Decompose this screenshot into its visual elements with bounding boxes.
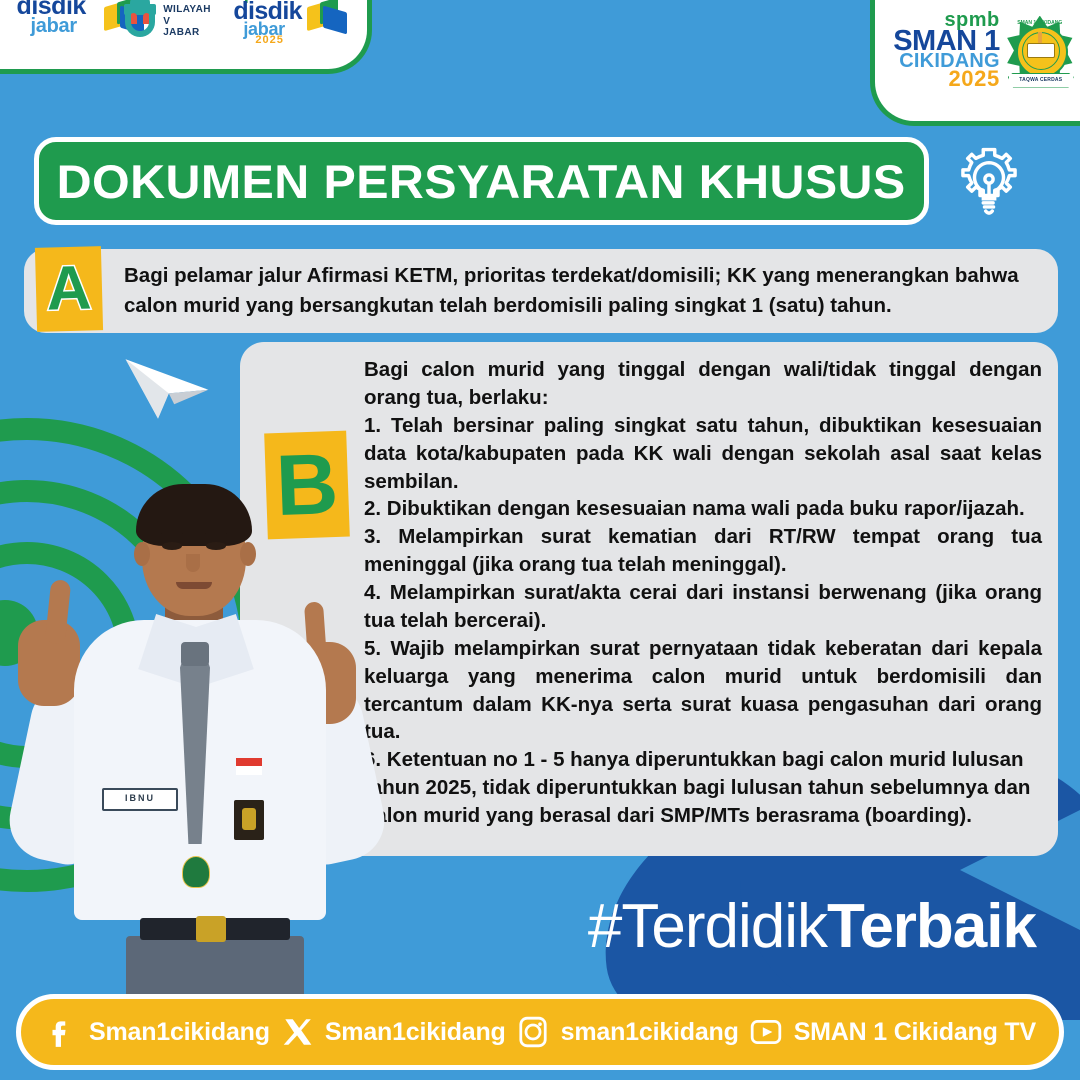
cadisdik-emblem-icon [120,0,157,39]
facebook-handle[interactable]: Sman1cikidang [89,1018,270,1047]
section-a-badge: A [35,246,103,332]
section-b-item-5: 5. Wajib melampirkan surat pernyataan ti… [364,635,1042,747]
youtube-handle[interactable]: SMAN 1 Cikidang TV [794,1018,1036,1047]
uniform-patch-icon [234,800,264,840]
poster-canvas: disdik jabar CADISDIK WILAYAH V JABAR sp… [0,0,1080,1080]
logo-disdik-jabar: disdik jabar [17,0,86,35]
section-a-panel: A Bagi pelamar jalur Afirmasi KETM, prio… [24,249,1058,333]
social-youtube[interactable]: SMAN 1 Cikidang TV [749,1015,1036,1049]
school-crest-icon: SMAN 1 CIKIDANG TAQWA CERDAS SANTUN [1006,16,1074,86]
hashtag-bold-part: Terbaik [827,892,1036,961]
section-b-item-2: 2. Dibuktikan dengan kesesuaian nama wal… [364,495,1042,523]
section-b-text: Bagi calon murid yang tinggal dengan wal… [364,356,1042,830]
section-b-badge: B [264,431,350,540]
page-title: DOKUMEN PERSYARATAN KHUSUS [57,154,906,209]
social-footer-bar: Sman1cikidang Sman1cikidang sman1cikidan… [16,994,1064,1070]
disdik-line2: jabar [31,18,77,35]
spmb-line4: 2025 [255,36,283,45]
logo-spmb-disdik-jabar: spmb disdik jabar 2025 [233,0,347,45]
top-right-school-logo-box: spmb SMAN 1 CIKIDANG 2025 SMAN 1 CIKIDAN… [870,0,1080,126]
social-facebook[interactable]: Sman1cikidang [44,1015,270,1049]
section-b-intro: Bagi calon murid yang tinggal dengan wal… [364,356,1042,412]
page-title-banner: DOKUMEN PERSYARATAN KHUSUS [34,137,929,225]
cadisdik-line3: JABAR [163,27,217,39]
social-instagram[interactable]: sman1cikidang [516,1015,739,1049]
school-wordmark: spmb SMAN 1 CIKIDANG 2025 [893,12,1000,88]
crest-top-text: SMAN 1 CIKIDANG [1006,20,1074,26]
social-x-twitter[interactable]: Sman1cikidang [280,1015,506,1049]
section-b-badge-letter: B [275,450,339,521]
section-b-item-1: 1. Telah bersinar paling singkat satu ta… [364,412,1042,496]
flag-pin-icon [236,758,262,775]
instagram-icon[interactable] [516,1015,550,1049]
crest-ribbon-text: TAQWA CERDAS SANTUN [1009,74,1073,100]
lightbulb-gear-icon [948,143,1030,225]
tie-badge-icon [182,856,210,888]
cadisdik-line2: WILAYAH V [163,4,217,28]
student-photo: IBNU [0,470,410,1000]
hashtag-light-part: #Terdidik [588,892,827,961]
student-name-tag: IBNU [102,788,178,811]
x-handle[interactable]: Sman1cikidang [325,1018,506,1047]
book-bookmark-icon [307,0,347,32]
section-b-item-3: 3. Melampirkan surat kematian dari RT/RW… [364,523,1042,579]
cadisdik-text-block: CADISDIK WILAYAH V JABAR [163,0,217,39]
facebook-icon[interactable] [44,1015,78,1049]
instagram-handle[interactable]: sman1cikidang [561,1018,739,1047]
youtube-icon[interactable] [749,1015,783,1049]
paper-plane-icon [122,352,212,424]
hashtag-slogan: #TerdidikTerbaik [588,891,1036,962]
section-a-text: Bagi pelamar jalur Afirmasi KETM, priori… [124,261,1040,320]
crest-ribbon: TAQWA CERDAS SANTUN [1008,73,1074,88]
x-twitter-icon[interactable] [280,1015,314,1049]
school-line4: 2025 [948,70,999,88]
section-a-badge-letter: A [46,257,92,320]
top-left-logo-bar: disdik jabar CADISDIK WILAYAH V JABAR sp… [0,0,372,74]
logo-cadisdik-wilayah-v: CADISDIK WILAYAH V JABAR [120,0,218,39]
section-b-item-4: 4. Melampirkan surat/akta cerai dari ins… [364,579,1042,635]
section-b-item-6: 6. Ketentuan no 1 - 5 hanya diperuntukka… [364,746,1042,830]
